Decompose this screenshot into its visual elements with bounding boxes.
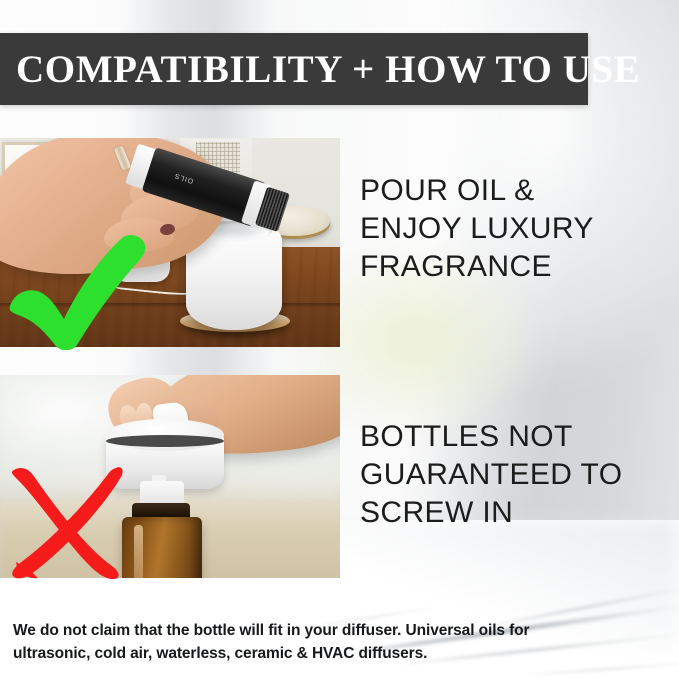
green-check-icon: [4, 232, 150, 350]
copy-line: FRAGRANCE: [360, 248, 660, 286]
copy-line: GUARANTEED TO: [360, 456, 660, 494]
red-x-icon: [4, 462, 126, 580]
copy-line: POUR OIL &: [360, 172, 660, 210]
copy-block-bottles-not-guaranteed: BOTTLES NOT GUARANTEED TO SCREW IN: [360, 418, 660, 532]
photo-oil-bottle-label-text: OILS: [173, 171, 194, 184]
copy-block-pour-oil: POUR OIL & ENJOY LUXURY FRAGRANCE: [360, 172, 660, 286]
copy-line: SCREW IN: [360, 494, 660, 532]
disclaimer-line: We do not claim that the bottle will fit…: [13, 619, 633, 642]
product-infographic: COMPATIBILITY + HOW TO USE OILS: [0, 0, 679, 679]
photo-diffuser-cap-seal-ring: [106, 435, 224, 447]
photo-amber-bottle-highlight: [134, 525, 143, 578]
disclaimer-line: ultrasonic, cold air, waterless, ceramic…: [13, 642, 633, 665]
copy-line: ENJOY LUXURY: [360, 210, 660, 248]
copy-line: BOTTLES NOT: [360, 418, 660, 456]
disclaimer-text: We do not claim that the bottle will fit…: [13, 619, 633, 665]
banner-title: COMPATIBILITY + HOW TO USE: [0, 47, 640, 92]
header-banner: COMPATIBILITY + HOW TO USE: [0, 33, 588, 105]
